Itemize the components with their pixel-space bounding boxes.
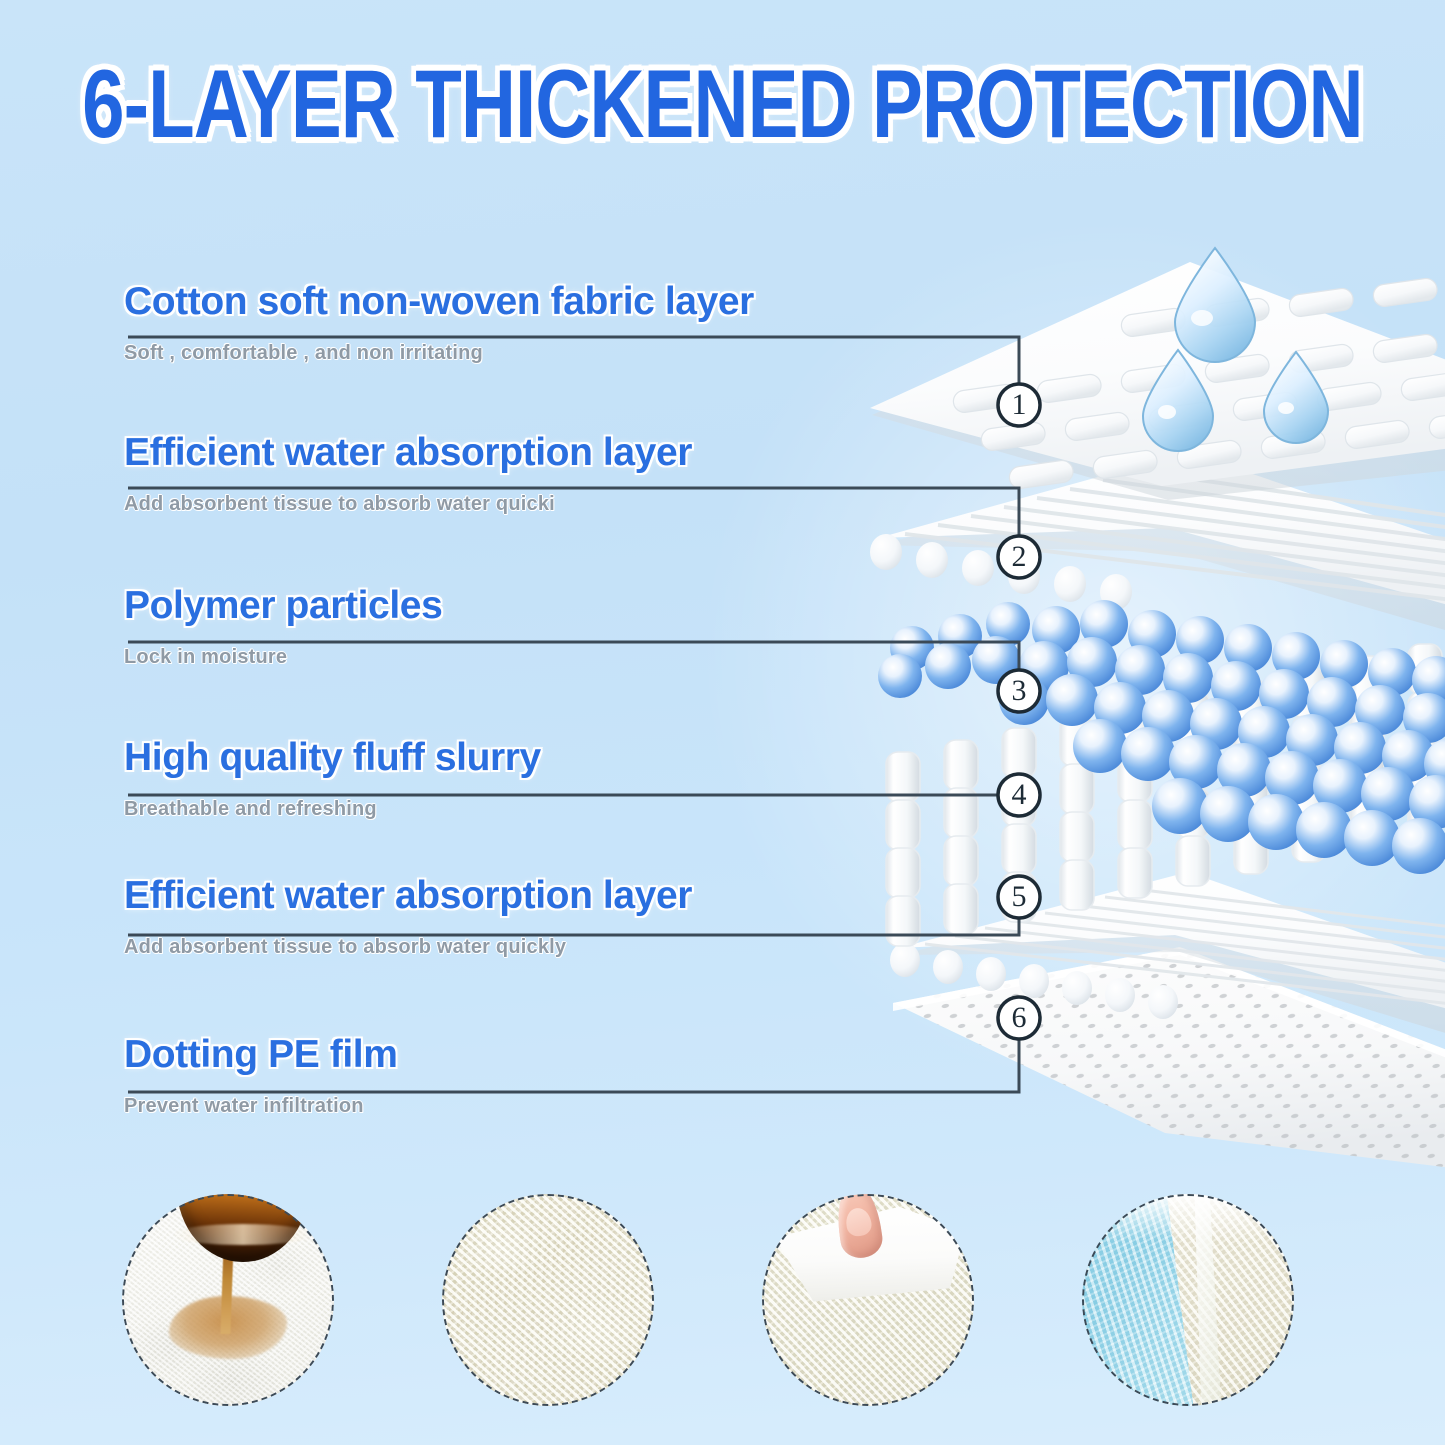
callout-subtitle-1: Soft , comfortable , and non irritating [124,343,754,363]
title-container: 6-LAYER THICKENED PROTECTION [0,58,1445,152]
callout-layer-3: Polymer particles Lock in moisture [124,586,442,667]
callout-title-4: High quality fluff slurry [124,738,541,777]
callout-subtitle-6: Prevent water infiltration [124,1096,397,1116]
callout-layer-2: Efficient water absorption layer Add abs… [124,433,692,514]
callout-subtitle-2: Add absorbent tissue to absorb water qui… [124,494,692,514]
callout-layer-5: Efficient water absorption layer Add abs… [124,876,692,957]
callout-title-1: Cotton soft non-woven fabric layer [124,282,754,321]
callout-title-6: Dotting PE film [124,1035,397,1074]
callout-subtitle-5: Add absorbent tissue to absorb water qui… [124,937,692,957]
infographic-poster: 6-LAYER THICKENED PROTECTION [0,0,1445,1445]
callout-layer-4: High quality fluff slurry Breathable and… [124,738,541,819]
callout-labels: Cotton soft non-woven fabric layer Soft … [0,0,1445,1445]
callout-title-5: Efficient water absorption layer [124,876,692,915]
callout-layer-6: Dotting PE film Prevent water infiltrati… [124,1035,397,1116]
callout-subtitle-4: Breathable and refreshing [124,799,541,819]
callout-title-2: Efficient water absorption layer [124,433,692,472]
callout-subtitle-3: Lock in moisture [124,647,442,667]
page-title: 6-LAYER THICKENED PROTECTION [82,50,1362,161]
callout-title-3: Polymer particles [124,586,442,625]
callout-layer-1: Cotton soft non-woven fabric layer Soft … [124,282,754,363]
